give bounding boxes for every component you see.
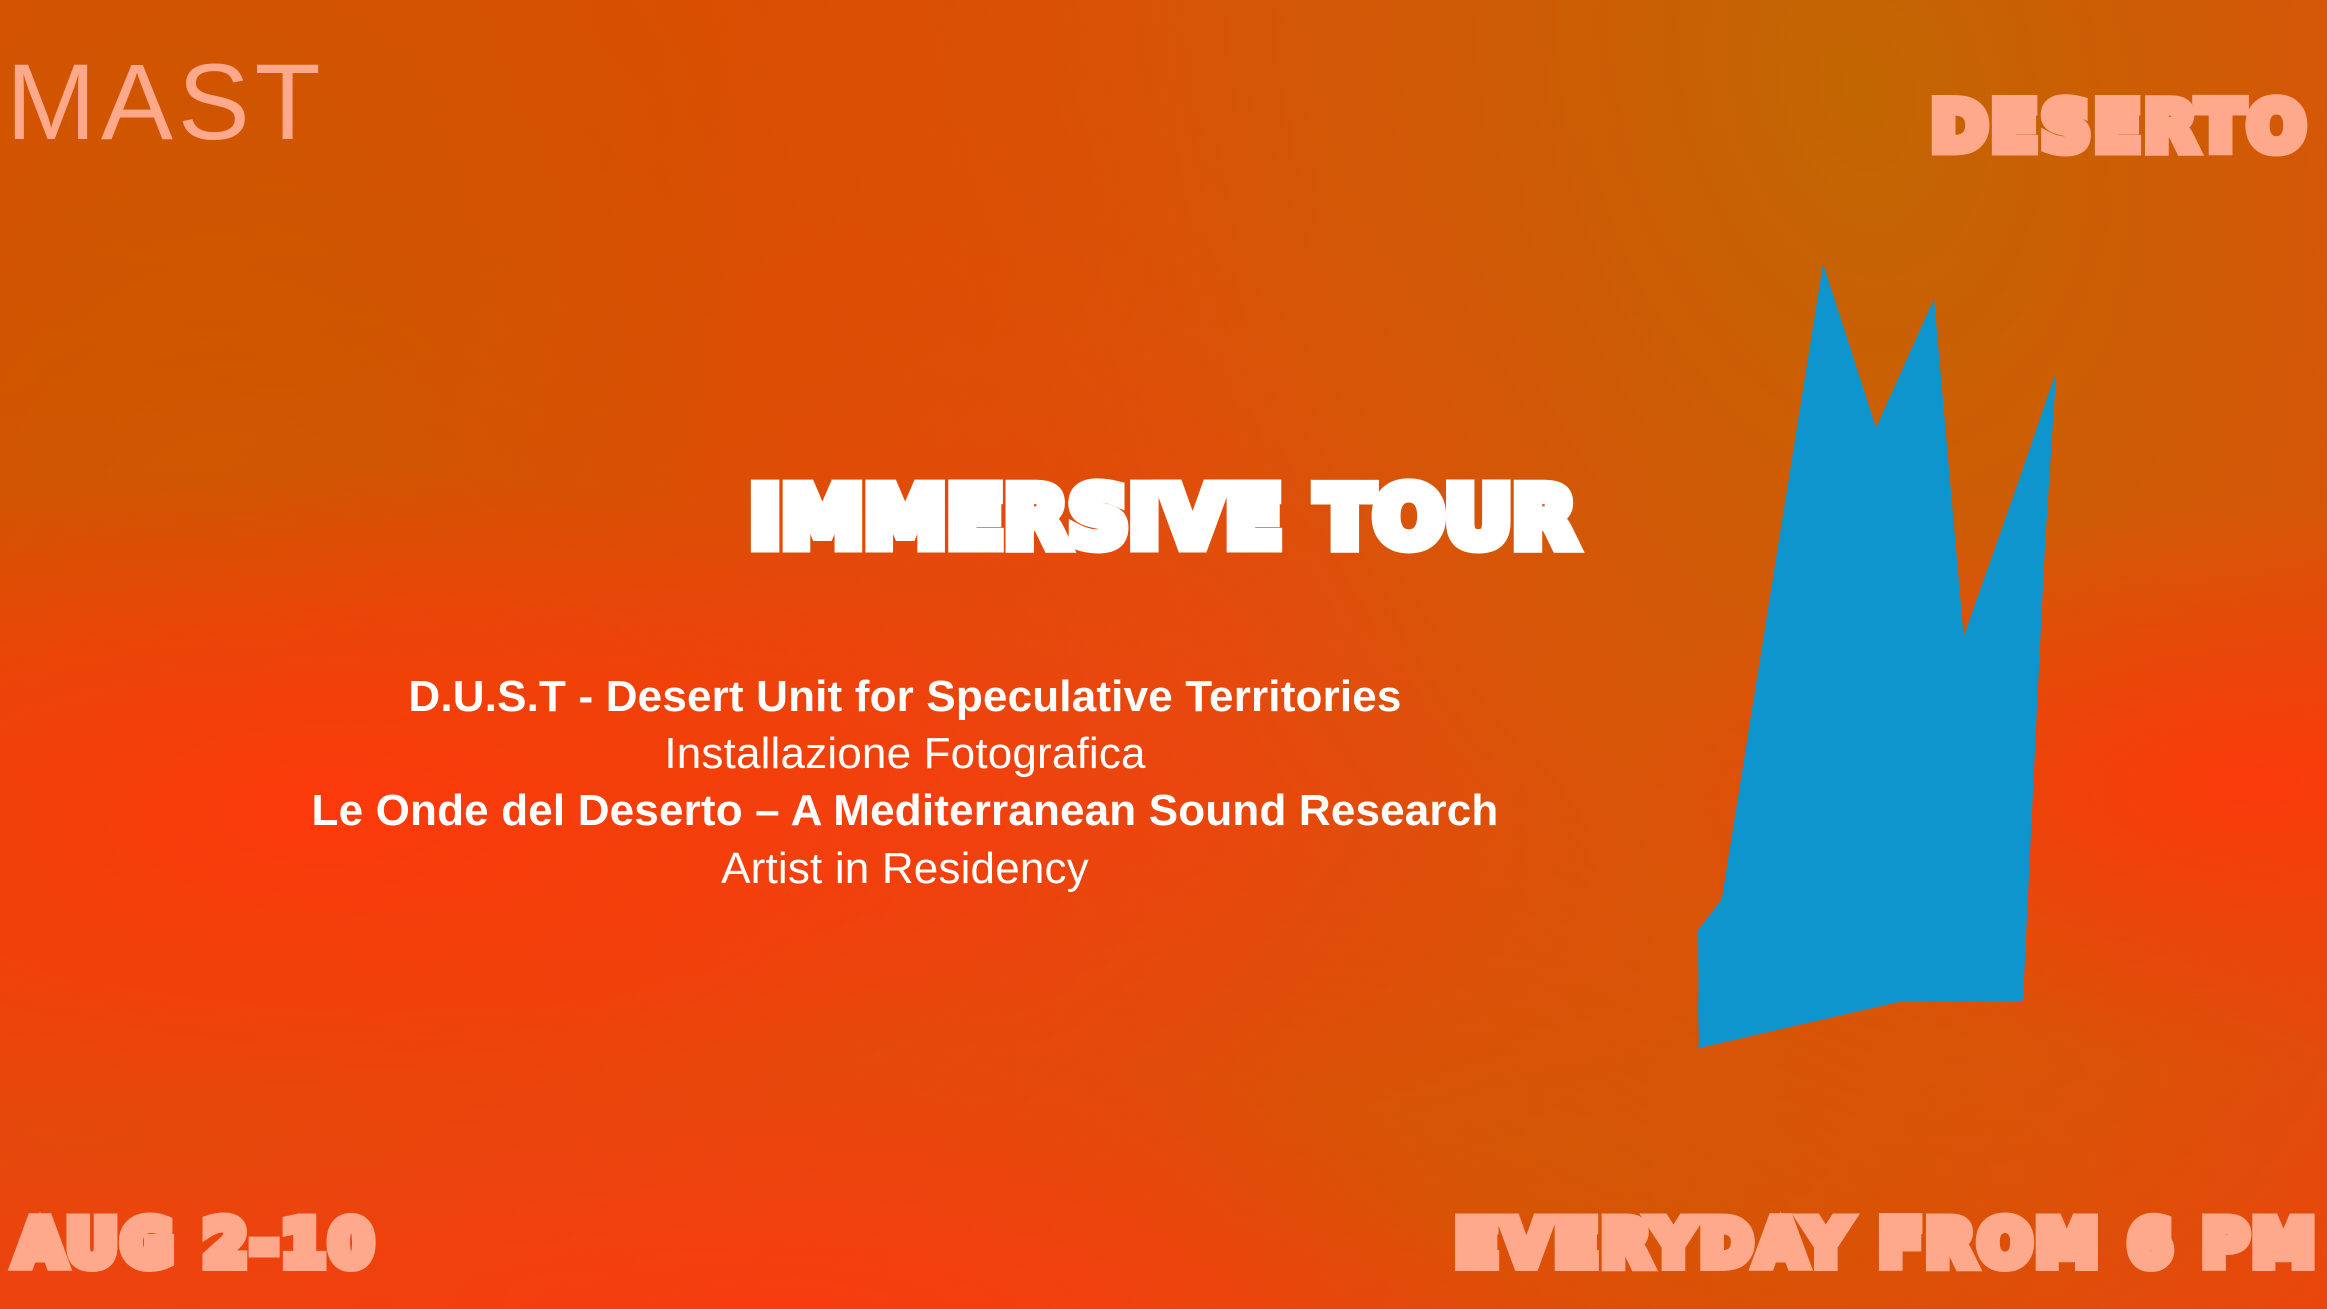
event-detail-line: Installazione Fotografica: [0, 725, 1810, 782]
event-dates: AUG 2-10: [16, 1213, 377, 1275]
background-grain-texture: [0, 0, 2327, 1309]
event-detail-line: Artist in Residency: [0, 840, 1810, 897]
poster-canvas: MAST DESERTO IMMERSIVETOUR D.U.S.T - Des…: [0, 0, 2327, 1309]
headline-word-2: TOUR: [1317, 471, 1577, 566]
program-title-deserto: DESERTO: [1931, 94, 2309, 162]
event-details-block: D.U.S.T - Desert Unit for Speculative Te…: [0, 668, 1810, 897]
brand-logo-mast: MAST: [6, 48, 325, 156]
event-hours: EVERYDAY FROM 6 PM: [1455, 1213, 2319, 1275]
event-detail-line: Le Onde del Deserto – A Mediterranean So…: [0, 782, 1810, 839]
page-title: IMMERSIVETOUR: [0, 478, 2327, 560]
event-detail-line: D.U.S.T - Desert Unit for Speculative Te…: [0, 668, 1810, 725]
headline-word-1: IMMERSIVE: [750, 471, 1283, 566]
